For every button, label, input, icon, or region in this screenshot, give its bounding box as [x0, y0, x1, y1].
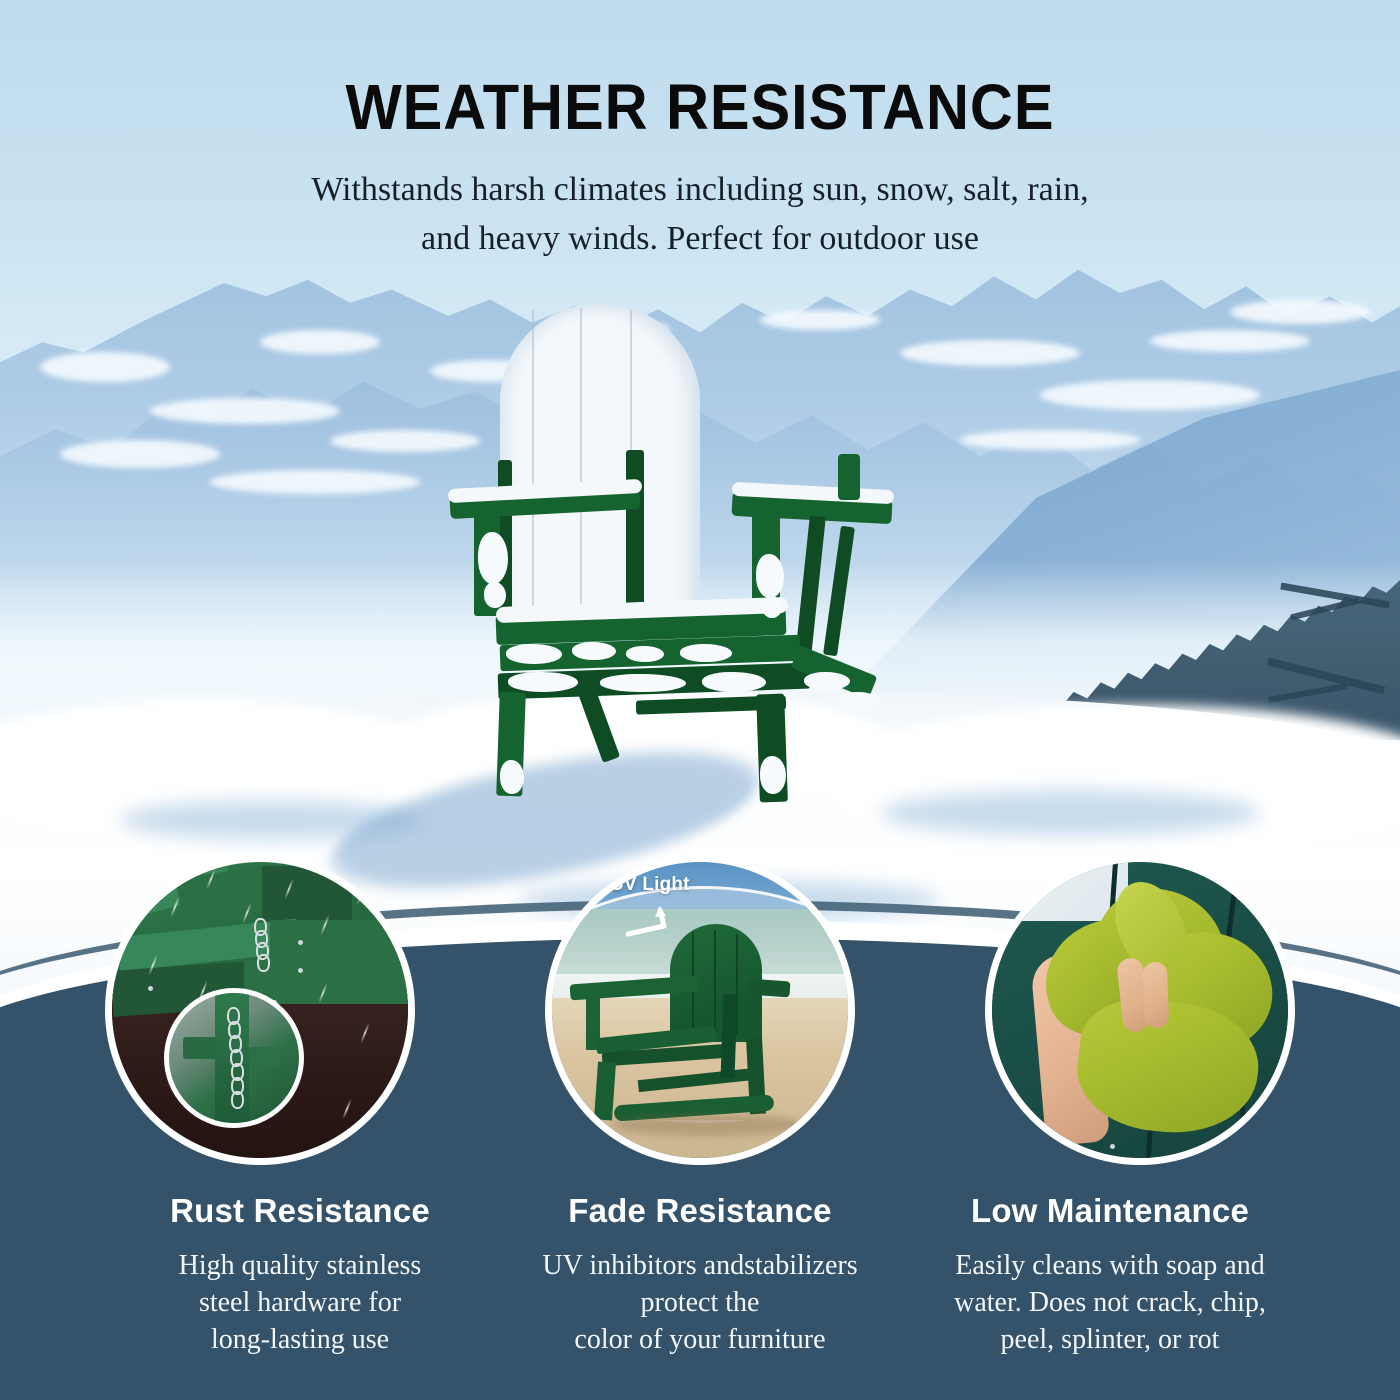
feature-image-fade-resistance: UV Light: [545, 855, 855, 1165]
feature-body-line: water. Does not crack, chip,: [900, 1285, 1320, 1322]
snowcap: [1230, 300, 1370, 324]
feature-body-line: long-lasting use: [90, 1322, 510, 1359]
snow-splat: [804, 672, 850, 690]
feature-body-line: protect the: [490, 1285, 910, 1322]
chair-back-seam: [532, 310, 534, 610]
finger: [1143, 962, 1169, 1029]
chair-back-panel: [500, 304, 700, 634]
infographic-page: UV Light: [0, 0, 1400, 1400]
uv-light-label: UV Light: [610, 874, 690, 896]
snow-splat: [500, 760, 524, 794]
uv-arrow-icon: [626, 904, 686, 938]
feature-title-fade-resistance: Fade Resistance: [490, 1192, 910, 1230]
inset-bracket: [183, 1037, 217, 1059]
deck-screw: [1110, 1144, 1115, 1149]
snow-splat: [762, 596, 782, 618]
snowcap: [1150, 330, 1310, 352]
snow-splat: [702, 672, 766, 692]
inset-bracket: [249, 1047, 279, 1067]
hardware-screw: [148, 986, 153, 991]
snow-splat: [600, 674, 686, 692]
hero-adirondack-chair: [440, 300, 920, 820]
snowcap: [900, 340, 1080, 366]
feature-body-line: color of your furniture: [490, 1322, 910, 1359]
snow-splat: [838, 692, 880, 710]
snowcap: [1040, 380, 1260, 410]
snow-splat: [484, 582, 506, 608]
chain-closeup-inset: [164, 988, 304, 1128]
chair-back-seam: [580, 308, 582, 618]
snowcap: [210, 470, 420, 494]
deck-screw: [1224, 1148, 1229, 1153]
hardware-screw: [298, 968, 303, 973]
subtitle-line-1: Withstands harsh climates including sun,…: [0, 165, 1400, 214]
snowcap: [260, 330, 380, 354]
hardware-screw: [298, 940, 303, 945]
feature-body-line: steel hardware for: [90, 1285, 510, 1322]
page-subtitle: Withstands harsh climates including sun,…: [0, 165, 1400, 264]
feature-title-rust-resistance: Rust Resistance: [90, 1192, 510, 1230]
cleaning-scene: [992, 862, 1288, 1158]
snow-splat: [756, 554, 784, 598]
page-title: WEATHER RESISTANCE: [49, 70, 1351, 144]
feature-body-line: High quality stainless: [90, 1248, 510, 1285]
snowcap: [40, 352, 170, 382]
snowcap: [150, 398, 340, 424]
chair-slat: [270, 920, 415, 960]
chair-back-post-right-2: [823, 526, 855, 657]
stainless-chain-link: [231, 1091, 244, 1109]
snow-shadow: [880, 790, 1260, 836]
feature-body-low-maintenance: Easily cleans with soap and water. Does …: [900, 1248, 1320, 1359]
feature-body-line: peel, splinter, or rot: [900, 1322, 1320, 1359]
feature-title-low-maintenance: Low Maintenance: [900, 1192, 1320, 1230]
feature-image-rust-resistance: [105, 855, 415, 1165]
subtitle-line-2: and heavy winds. Perfect for outdoor use: [0, 214, 1400, 263]
beach-chair-seam: [714, 930, 716, 1038]
snow-splat: [572, 642, 616, 660]
snow-splat: [680, 644, 732, 662]
feature-body-rust-resistance: High quality stainless steel hardware fo…: [90, 1248, 510, 1359]
snow-splat: [626, 646, 664, 662]
feature-image-low-maintenance: [985, 855, 1295, 1165]
beach-chair-shadow: [612, 1114, 802, 1136]
beach-chair-armrest-right: [747, 979, 790, 998]
feature-body-fade-resistance: UV inhibitors andstabilizers protect the…: [490, 1248, 910, 1359]
snow-splat: [506, 644, 562, 664]
feature-body-line: Easily cleans with soap and: [900, 1248, 1320, 1285]
stainless-chain-link: [257, 954, 270, 972]
beach-chair-back-post: [721, 994, 738, 1078]
feature-body-line: UV inhibitors andstabilizers: [490, 1248, 910, 1285]
chair-brace-left: [578, 687, 620, 763]
beach-scene: UV Light: [552, 862, 848, 1158]
snow-splat: [760, 756, 786, 794]
snow-splat: [478, 532, 508, 584]
chair-back-top-right: [838, 454, 860, 500]
snowcap: [960, 430, 1140, 450]
snowcap: [60, 440, 220, 468]
rust-scene: [112, 862, 408, 1158]
snow-splat: [508, 672, 578, 692]
